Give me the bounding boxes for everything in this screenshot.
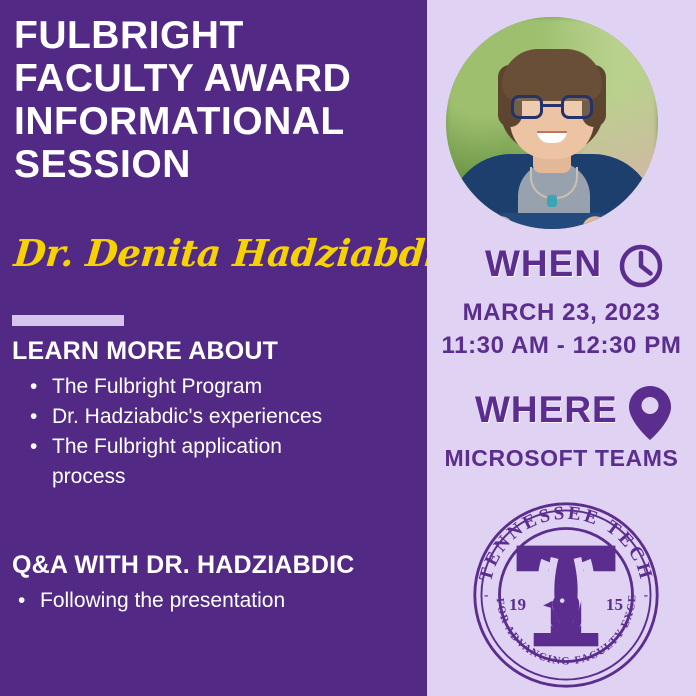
tennessee-tech-seal-logo: TENNESSEE TECH CENTER FOR ADVANCING FACU… — [471, 500, 661, 690]
presenter-name: Dr. Denita Hadziabdic — [12, 233, 425, 273]
presenter-portrait-photo — [446, 17, 658, 229]
qa-heading: Q&A WITH DR. HADZIABDIC — [12, 551, 355, 580]
map-pin-icon — [627, 384, 673, 447]
qa-list: Following the presentation — [14, 586, 374, 616]
portrait-hair-top — [502, 49, 602, 101]
left-panel: FULBRIGHT FACULTY AWARD INFORMATIONAL SE… — [0, 0, 427, 696]
poster-canvas: FULBRIGHT FACULTY AWARD INFORMATIONAL SE… — [0, 0, 696, 696]
where-heading: WHERE — [475, 389, 618, 431]
event-date: MARCH 23, 2023 — [427, 299, 696, 327]
list-item: Dr. Hadziabdic's experiences — [26, 402, 356, 432]
right-panel: WHEN MARCH 23, 2023 11:30 AM - 12:30 PM … — [427, 0, 696, 696]
learn-more-list: The Fulbright Program Dr. Hadziabdic's e… — [26, 372, 356, 492]
portrait-pendant — [547, 195, 557, 207]
clock-icon — [617, 242, 665, 295]
title-line-3: INFORMATIONAL — [14, 100, 414, 143]
event-location: MICROSOFT TEAMS — [427, 445, 696, 472]
when-heading: WHEN — [485, 243, 602, 285]
seal-year-left: 19 — [509, 595, 526, 614]
glasses-lens-right — [561, 95, 593, 119]
glasses-bridge — [543, 104, 561, 107]
seal-year-right: 15 — [606, 595, 623, 614]
learn-more-heading: LEARN MORE ABOUT — [12, 337, 278, 366]
title-line-1: FULBRIGHT — [14, 14, 414, 57]
title-line-4: SESSION — [14, 143, 414, 186]
title-line-2: FACULTY AWARD — [14, 57, 414, 100]
page-title: FULBRIGHT FACULTY AWARD INFORMATIONAL SE… — [14, 14, 414, 186]
list-item: Following the presentation — [14, 586, 374, 616]
list-item: The Fulbright Program — [26, 372, 356, 402]
portrait-glasses — [511, 95, 593, 119]
seal-dash-left: - — [484, 587, 488, 602]
list-item: The Fulbright application process — [26, 432, 356, 492]
divider-bar — [12, 315, 124, 326]
seal-dash-right: - — [644, 587, 648, 602]
glasses-lens-left — [511, 95, 543, 119]
event-time: 11:30 AM - 12:30 PM — [427, 332, 696, 360]
